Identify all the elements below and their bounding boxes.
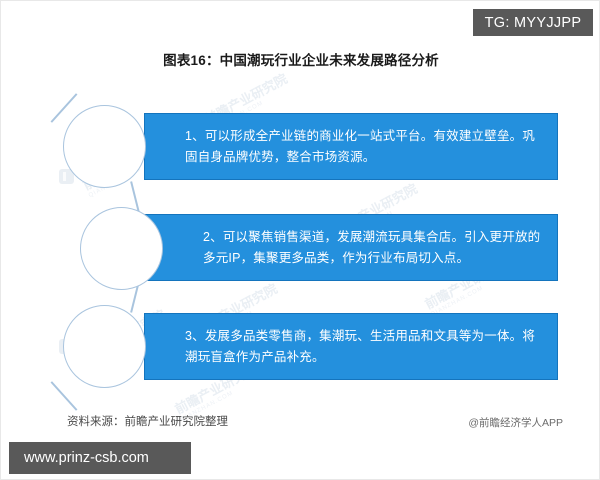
node-circle-1 [63,105,146,188]
node-circle-3 [63,305,146,388]
path-bar-3-text: 3、发展多品类零售商，集潮玩、生活用品和文具等为一体。将潮玩盲盒作为产品补充。 [145,326,557,367]
figure-page: 前瞻产业研究院 QIANZHAN.COM 前瞻产业研究院 QIANZHAN.CO… [0,0,600,480]
path-bar-1-text: 1、可以形成全产业链的商业化一站式平台。有效建立壁垒。巩固自身品牌优势，整合市场… [145,126,557,167]
path-bar-2-text: 2、可以聚焦销售渠道，发展潮流玩具集合店。引入更开放的多元IP，集聚更多品类，作… [145,227,557,268]
node-circle-2 [80,207,163,290]
site-watermark-badge: www.prinz-csb.com [9,442,191,474]
source-note: 资料来源：前瞻产业研究院整理 [67,413,228,429]
path-diagram: 1、可以形成全产业链的商业化一站式平台。有效建立壁垒。巩固自身品牌优势，整合市场… [1,1,599,479]
path-bar-2[interactable]: 2、可以聚焦销售渠道，发展潮流玩具集合店。引入更开放的多元IP，集聚更多品类，作… [144,214,558,281]
tg-watermark-badge: TG: MYYJJPP [473,9,593,36]
app-attribution: @前瞻经济学人APP [468,415,563,430]
page-title: 图表16：中国潮玩行业企业未来发展路径分析 [1,49,600,69]
path-bar-3[interactable]: 3、发展多品类零售商，集潮玩、生活用品和文具等为一体。将潮玩盲盒作为产品补充。 [144,313,558,380]
connector-line-bottom [51,381,78,411]
path-bar-1[interactable]: 1、可以形成全产业链的商业化一站式平台。有效建立壁垒。巩固自身品牌优势，整合市场… [144,113,558,180]
